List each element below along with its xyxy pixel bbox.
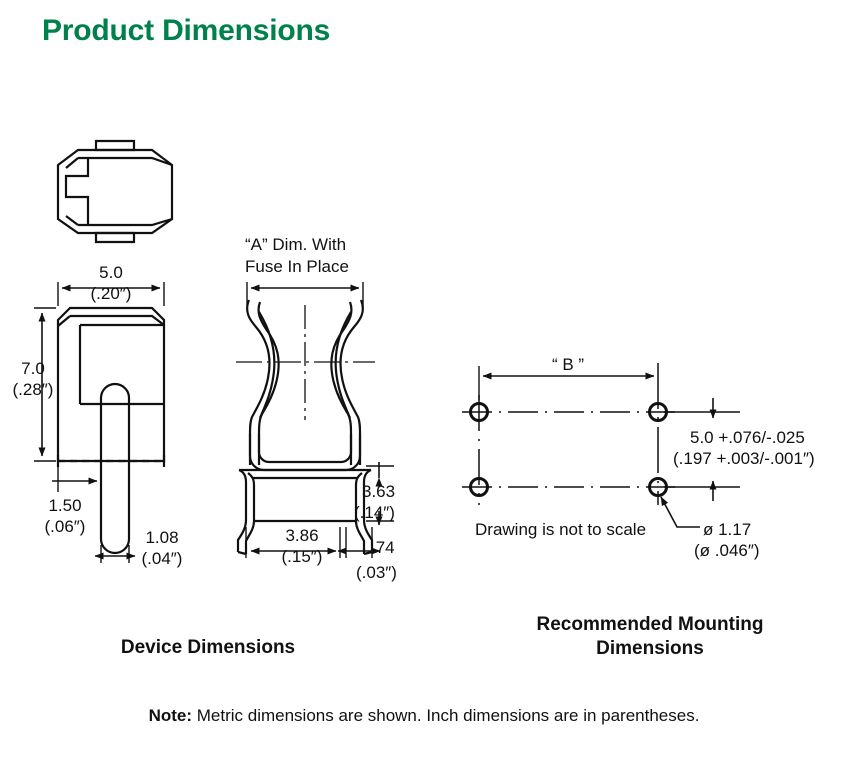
caption-device-dimensions: Device Dimensions bbox=[40, 636, 376, 660]
clip-outer-u bbox=[250, 434, 360, 470]
label-not-to-scale: Drawing is not to scale bbox=[475, 520, 646, 539]
caption-recommended-mounting-dimensions: Recommended Mounting Dimensions bbox=[470, 613, 830, 661]
dimension-a-fuse-in-place bbox=[247, 282, 363, 306]
clip-left-leaf bbox=[259, 312, 274, 418]
dim-pin-width-metric: 1.08 bbox=[145, 528, 178, 547]
clip-base-left-outer bbox=[238, 470, 246, 552]
side-view-top-plate bbox=[70, 316, 164, 325]
side-view-pin bbox=[101, 384, 129, 553]
clip-right-leaf bbox=[336, 312, 351, 418]
top-view-chamfer-top bbox=[78, 158, 172, 165]
dim-base-height-inch: (.14″) bbox=[354, 503, 395, 522]
top-view-tab-top bbox=[96, 141, 134, 150]
dim-pin-offset-inch: (.06″) bbox=[45, 517, 86, 536]
top-view-chamfer-bottom bbox=[78, 219, 172, 225]
clip-leg-left-tip bbox=[238, 552, 246, 554]
dim-height-metric: 7.0 bbox=[21, 359, 45, 378]
top-view-drawing bbox=[58, 141, 172, 242]
dim-height-inch: (.28″) bbox=[13, 380, 54, 399]
leader-line bbox=[661, 497, 700, 527]
dim-leg-width-inch: (.03″) bbox=[356, 563, 397, 582]
dim-pin-offset-metric: 1.50 bbox=[48, 496, 81, 515]
label-b-dim: “ B ” bbox=[552, 355, 584, 374]
clip-base-left-inner bbox=[246, 473, 254, 554]
note-text: Metric dimensions are shown. Inch dimens… bbox=[192, 706, 699, 725]
note-label: Note: bbox=[149, 706, 192, 725]
top-view-outer-body bbox=[58, 150, 172, 233]
dim-width-metric: 5.0 bbox=[99, 263, 123, 282]
dim-hole-inch: (ø .046″) bbox=[694, 541, 760, 560]
product-dimensions-page: Product Dimensions bbox=[0, 0, 848, 784]
mounting-pattern-drawing bbox=[462, 363, 675, 505]
dim-hole-metric: ø 1.17 bbox=[703, 520, 751, 539]
top-view-tab-bottom bbox=[96, 233, 134, 242]
leader-hole-diameter bbox=[661, 497, 700, 527]
top-view-chamfer-left-bottom bbox=[66, 216, 78, 225]
dim-base-width-inch: (.15″) bbox=[282, 547, 323, 566]
dim-leg-width-metric: .74 bbox=[371, 538, 395, 557]
top-view-chamfer-left-top bbox=[66, 158, 78, 168]
clip-right-arm-inner bbox=[331, 302, 351, 465]
clip-inner-u bbox=[259, 434, 351, 462]
dim-pitch-metric: 5.0 +.076/-.025 bbox=[690, 428, 805, 447]
top-view-left-notch bbox=[66, 158, 88, 225]
dim-pin-width-inch: (.04″) bbox=[142, 549, 183, 568]
clip-left-arm-inner bbox=[259, 302, 279, 465]
dim-width-inch: (.20″) bbox=[91, 284, 132, 303]
technical-drawing-canvas: 5.0 (.20″) 7.0 (.28″) 1.50 (.06″) bbox=[0, 0, 848, 784]
dim-pitch-inch: (.197 +.003/-.001″) bbox=[673, 449, 815, 468]
label-a-dim-line2: Fuse In Place bbox=[245, 257, 349, 276]
dim-base-height-metric: 3.63 bbox=[362, 482, 395, 501]
dimension-pin-offset-1p50 bbox=[52, 463, 101, 492]
dim-base-width-metric: 3.86 bbox=[285, 526, 318, 545]
label-a-dim-line1: “A” Dim. With bbox=[245, 235, 346, 254]
note-line: Note: Metric dimensions are shown. Inch … bbox=[0, 706, 848, 726]
